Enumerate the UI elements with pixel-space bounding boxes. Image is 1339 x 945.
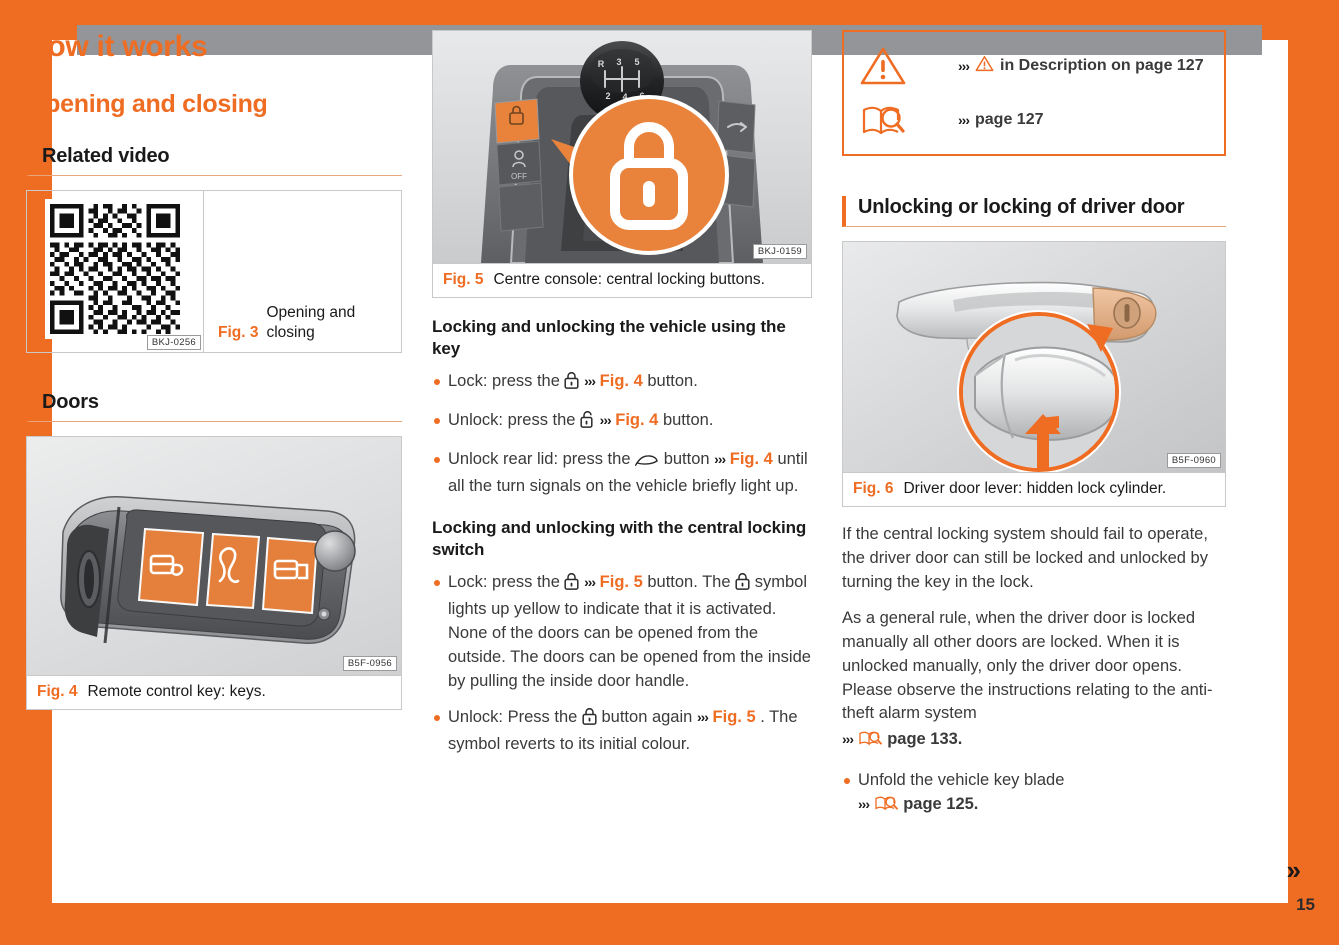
door-handle-illustration [843,242,1225,472]
arrows-icon: ››› [958,58,969,74]
warning-triangle-icon [860,46,906,86]
figure-4-caption-text: Remote control key: keys. [87,683,265,701]
list-item: Unfold the vehicle key blade ››› page 12… [842,769,1226,820]
section-title-text: Doors [42,391,99,413]
lock-open-icon [580,411,595,436]
arrows-icon: ››› [958,112,969,128]
heading-locking-with-switch: Locking and unlocking with the central l… [432,517,812,561]
svg-text:5: 5 [634,57,639,67]
figure-6-caption: Fig. 6 Driver door lever: hidden lock cy… [843,472,1225,506]
bullet-text: Unlock rear lid: press the [448,450,631,468]
page-number: 15 [1296,895,1315,915]
figure-4-image: B5F-0956 [27,437,401,675]
figure-6-image: B5F-0960 [843,242,1225,472]
bullet-text-mid: button again [602,708,693,726]
bullet-text-mid: button. The [647,573,730,591]
paragraph: If the central locking system should fai… [842,523,1226,595]
svg-text:R: R [598,59,605,69]
svg-text:2: 2 [605,91,610,101]
figure-3-caption: Fig. 3 Opening and closing [204,191,401,352]
svg-text:OFF: OFF [511,172,527,181]
figure-5: R35 246 OFF [432,30,812,298]
reference-row-text: ››› in Description on page 127 [958,55,1204,77]
reference-box: ››› in Description on page 127 › [842,30,1226,156]
figure-3: BKJ-0256 Fig. 3 Opening and closing [26,190,402,353]
figure-reference[interactable]: Fig. 5 [713,708,756,726]
figure-code: B5F-0960 [1167,453,1221,468]
arrows-icon: ››› [714,451,725,467]
reference-line: ››› page 133. [842,728,1226,755]
section-header-driver-door: Unlocking or locking of driver door [842,196,1226,227]
page-subtitle: Opening and closing [26,90,402,119]
figure-5-label: Fig. 5 [443,271,483,289]
svg-text:3: 3 [616,57,621,67]
middle-column: R35 246 OFF [432,30,812,832]
left-column: How it works Opening and closing Related… [26,30,402,832]
arrows-icon: ››› [584,574,595,590]
book-magnifier-icon [874,794,899,820]
arrows-icon: ››› [858,796,869,812]
figure-6-label: Fig. 6 [853,480,893,498]
reference-row-warning: ››› in Description on page 127 [860,46,1208,86]
bullet-text: Unfold the vehicle key blade [858,771,1064,789]
bullet-text-after: button. [663,411,713,429]
lock-closed-icon [564,573,579,598]
bullet-text-mid: button [664,450,710,468]
list-item: Unlock rear lid: press the button ››› Fi… [432,448,812,499]
section-title-text: Related video [42,145,169,167]
book-magnifier-icon [860,100,906,140]
figure-reference[interactable]: Fig. 4 [600,372,643,390]
figure-5-caption: Fig. 5 Centre console: central locking b… [433,263,811,297]
bullet-text: Lock: press the [448,372,560,390]
list-item: Lock: press the ››› Fig. 4 button. [432,370,812,397]
lock-closed-icon [564,372,579,397]
figure-reference[interactable]: Fig. 5 [600,573,643,591]
list-item: Unlock: Press the button again ››› Fig. … [432,706,812,757]
page-reference[interactable]: page 125. [903,795,978,813]
lock-closed-icon [582,708,597,733]
figure-code: BKJ-0159 [753,244,807,259]
list-item: Lock: press the ››› Fig. 5 button. The s… [432,571,812,694]
lock-closed-icon [735,573,750,598]
section-header-doors: Doors [26,391,402,422]
figure-5-caption-text: Centre console: central locking buttons. [493,271,764,289]
figure-code: B5F-0956 [343,656,397,671]
arrows-icon: ››› [842,731,853,747]
warning-triangle-small-icon [975,55,994,77]
book-magnifier-icon [858,729,883,755]
bullet-text: Lock: press the [448,573,560,591]
arrows-icon: ››› [600,412,611,428]
page-title: How it works [26,30,402,64]
reference-row-page: ››› page 127 [860,100,1208,140]
figure-6-caption-text: Driver door lever: hidden lock cylinder. [903,480,1166,498]
qr-code-cell: BKJ-0256 [27,191,204,352]
figure-4: B5F-0956 Fig. 4 Remote control key: keys… [26,436,402,710]
section-title-text: Unlocking or locking of driver door [858,196,1184,218]
figure-reference[interactable]: Fig. 4 [730,450,773,468]
rear-lid-icon [635,451,659,475]
figure-4-label: Fig. 4 [37,683,77,701]
right-column: ››› in Description on page 127 › [842,30,1226,832]
arrows-icon: ››› [584,373,595,389]
figure-5-image: R35 246 OFF [433,31,811,263]
bullet-text: Unlock: Press the [448,708,577,726]
paragraph: As a general rule, when the driver door … [842,607,1226,727]
reference-label: in Description on page 127 [1000,57,1204,75]
heading-locking-with-key: Locking and unlocking the vehicle using … [432,316,812,360]
qr-code-icon [35,199,195,339]
figure-6: B5F-0960 Fig. 6 Driver door lever: hidde… [842,241,1226,507]
continuation-chevron-icon: » [1287,857,1301,883]
bullet-text-after: button. [647,372,697,390]
reference-label: page 127 [975,111,1043,129]
content-columns: How it works Opening and closing Related… [26,30,1216,832]
section-header-related-video: Related video [26,145,402,176]
arrows-icon: ››› [697,709,708,725]
remote-key-illustration [27,437,401,675]
list-item: Unlock: press the ››› Fig. 4 button. [432,409,812,436]
figure-4-caption: Fig. 4 Remote control key: keys. [27,675,401,709]
figure-code: BKJ-0256 [147,335,201,350]
bullet-text: Unlock: press the [448,411,575,429]
figure-3-label: Fig. 3 [218,323,258,342]
figure-reference[interactable]: Fig. 4 [615,411,658,429]
page-reference[interactable]: page 133. [887,730,962,748]
centre-console-illustration: R35 246 OFF [433,31,811,263]
reference-row-text: ››› page 127 [958,111,1043,129]
figure-3-caption-text: Opening and closing [266,303,391,342]
